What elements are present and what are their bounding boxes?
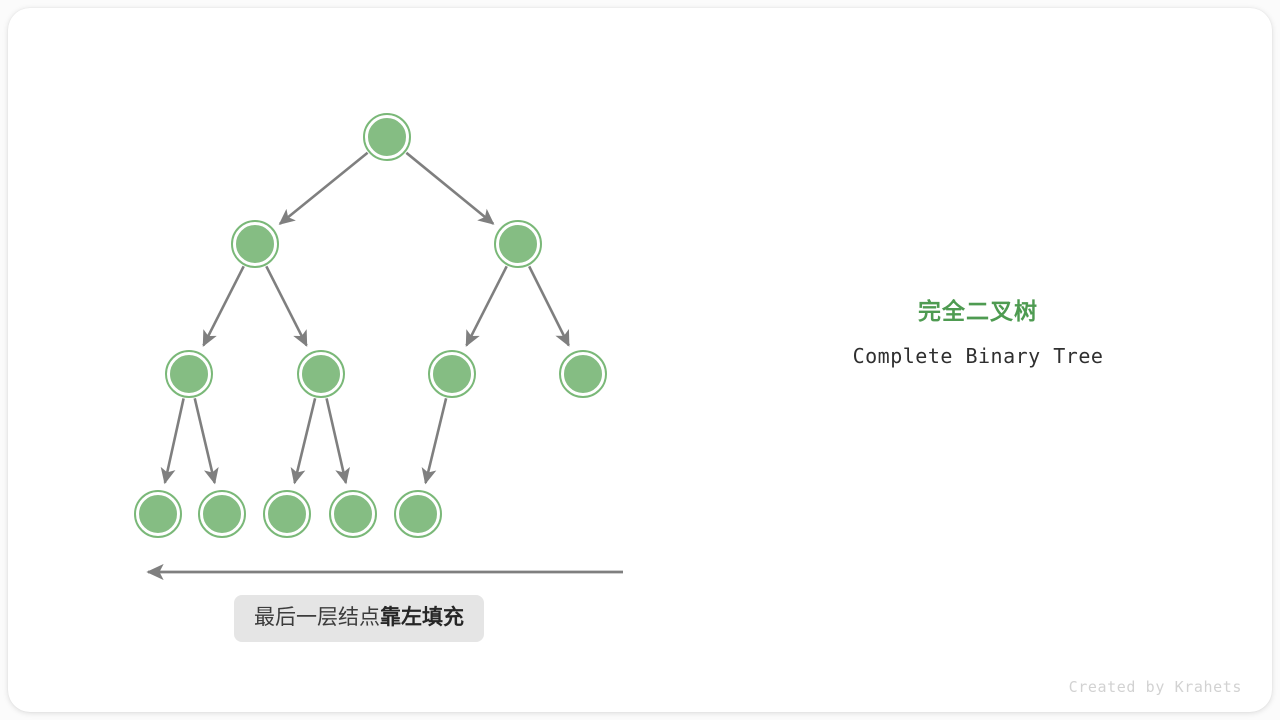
tree-edge bbox=[165, 398, 184, 482]
tree-node bbox=[135, 491, 181, 537]
tree-edges bbox=[165, 153, 569, 483]
tree-nodes bbox=[135, 114, 606, 537]
tree-edge bbox=[280, 153, 368, 224]
tree-node bbox=[199, 491, 245, 537]
tree-edge bbox=[295, 398, 316, 483]
node-body bbox=[367, 117, 407, 157]
node-body bbox=[138, 494, 178, 534]
node-body bbox=[202, 494, 242, 534]
tree-node bbox=[264, 491, 310, 537]
tree-node bbox=[298, 351, 344, 397]
node-body bbox=[169, 354, 209, 394]
tree-node bbox=[495, 221, 541, 267]
node-body bbox=[432, 354, 472, 394]
tree-edge bbox=[195, 398, 215, 483]
caption-text-plain: 最后一层结点 bbox=[254, 606, 380, 629]
tree-node bbox=[395, 491, 441, 537]
legend-subtitle: Complete Binary Tree bbox=[768, 341, 1188, 371]
tree-edge bbox=[266, 266, 306, 345]
tree-edge bbox=[406, 153, 493, 224]
caption-wrapper: 最后一层结点靠左填充 bbox=[234, 595, 484, 642]
legend-block: 完全二叉树 Complete Binary Tree bbox=[768, 296, 1188, 371]
tree-edge bbox=[466, 266, 506, 345]
tree-node bbox=[364, 114, 410, 160]
tree-node bbox=[560, 351, 606, 397]
node-body bbox=[301, 354, 341, 394]
tree-node bbox=[166, 351, 212, 397]
tree-node bbox=[330, 491, 376, 537]
caption-box: 最后一层结点靠左填充 bbox=[234, 595, 484, 642]
diagram-card: 完全二叉树 Complete Binary Tree 最后一层结点靠左填充 Cr… bbox=[8, 8, 1272, 712]
node-body bbox=[235, 224, 275, 264]
tree-node bbox=[232, 221, 278, 267]
node-body bbox=[398, 494, 438, 534]
tree-edge bbox=[203, 266, 243, 345]
node-body bbox=[333, 494, 373, 534]
node-body bbox=[267, 494, 307, 534]
caption-text-bold: 靠左填充 bbox=[380, 606, 464, 629]
tree-node bbox=[429, 351, 475, 397]
node-body bbox=[563, 354, 603, 394]
node-body bbox=[498, 224, 538, 264]
tree-edge bbox=[327, 398, 346, 482]
tree-edge bbox=[426, 398, 447, 483]
credit-footer: Created by Krahets bbox=[1069, 678, 1242, 696]
tree-edge bbox=[529, 266, 569, 345]
diagram-stage: 完全二叉树 Complete Binary Tree 最后一层结点靠左填充 Cr… bbox=[0, 0, 1280, 720]
legend-title: 完全二叉树 bbox=[768, 296, 1188, 326]
